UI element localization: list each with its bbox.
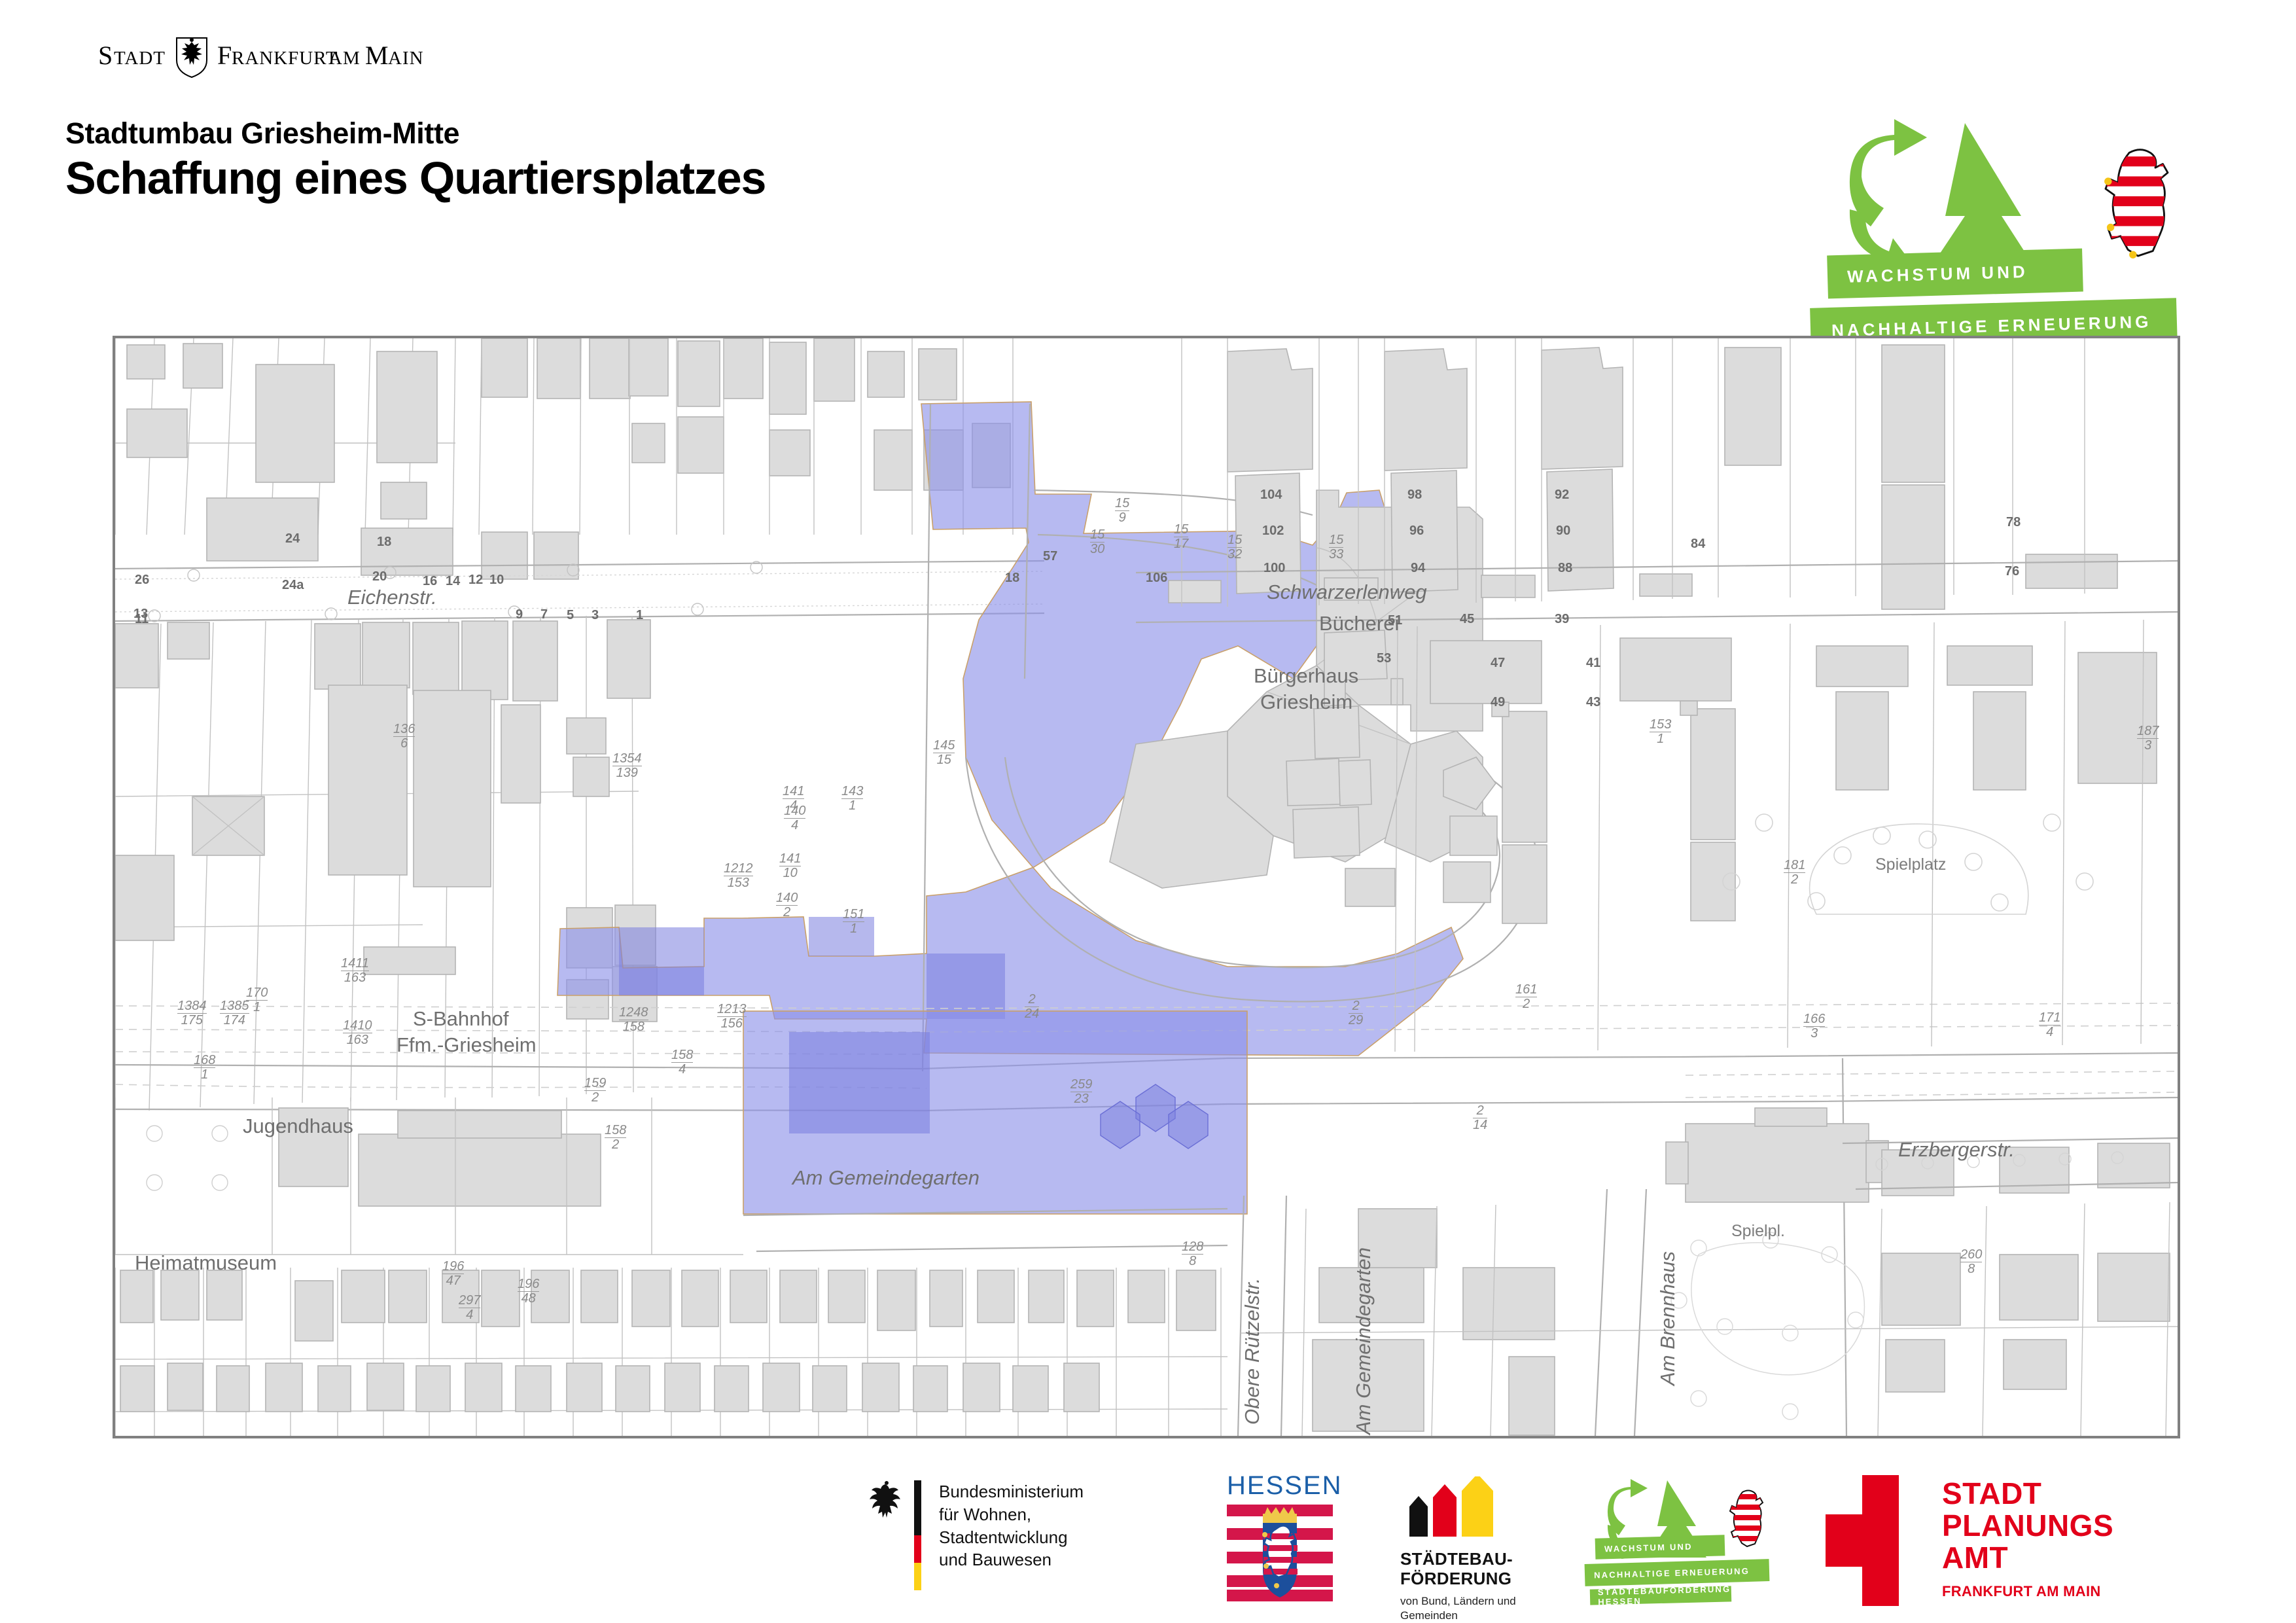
house-number: 88 — [1558, 561, 1572, 576]
logo-staedtebaufoerderung: STÄDTEBAU- FÖRDERUNG von Bund, Ländern u… — [1400, 1476, 1516, 1623]
house-number: 57 — [1043, 549, 1057, 564]
parcel-number: 1402 — [776, 891, 798, 919]
staedtebau-line2: FÖRDERUNG — [1400, 1569, 1516, 1588]
svg-text:F: F — [217, 41, 232, 70]
parcel-number: 1531 — [1650, 718, 1671, 745]
parcel-number: 1592 — [584, 1077, 606, 1104]
house-number: 78 — [2006, 515, 2021, 530]
logo-hessen: HESSEN — [1227, 1471, 1343, 1605]
house-number: 94 — [1411, 561, 1425, 576]
page-subtitle: Stadtumbau Griesheim-Mitte — [65, 118, 766, 149]
house-number: 16 — [423, 574, 437, 589]
parcel-number: 1385174 — [220, 999, 249, 1027]
parcel-number: 1873 — [2137, 724, 2159, 752]
svg-text:AM: AM — [328, 48, 361, 69]
house-number: 100 — [1263, 561, 1285, 576]
parcel-number: 224 — [1025, 993, 1039, 1020]
map-content: .p { fill:#dcdcdc; stroke:#b4b4b4; strok… — [115, 338, 2178, 1436]
parcel-number: 1582 — [605, 1124, 626, 1151]
parcel-number: 1248158 — [619, 1006, 648, 1033]
parcel-number: 1812 — [1784, 859, 1805, 886]
house-number: 5 — [567, 608, 574, 623]
parcel-number: 1288 — [1182, 1240, 1203, 1268]
program-logo-line1: WACHSTUM UND — [1827, 249, 2083, 299]
bundesadler-icon — [867, 1479, 906, 1537]
logo-stadtplanungsamt: STADT PLANUNGS AMT FRANKFURT AM MAIN — [1826, 1475, 1924, 1609]
place-label-buecherei: Bücherei — [1319, 612, 1399, 635]
map-vector-layer: .p { fill:#dcdcdc; stroke:#b4b4b4; strok… — [115, 338, 2178, 1436]
place-label-spielplatz: Spielplatz — [1875, 855, 1946, 874]
house-number: 3 — [592, 608, 599, 623]
place-label-s-bahnhof: S-Bahnhof — [413, 1007, 509, 1031]
program-small-line1: WACHSTUM UND — [1595, 1535, 1725, 1560]
house-number: 92 — [1555, 488, 1569, 503]
bmwsb-line3: und Bauwesen — [939, 1548, 1084, 1571]
svg-text:AIN: AIN — [388, 48, 424, 69]
house-number: 47 — [1491, 656, 1505, 671]
parcel-number: 214 — [1473, 1104, 1487, 1132]
spa-line1: STADT — [1942, 1478, 2113, 1510]
parcel-number: 2608 — [1960, 1248, 1982, 1275]
hessen-wordmark: HESSEN — [1227, 1471, 1343, 1501]
house-number: 76 — [2005, 564, 2019, 579]
title-block: Stadtumbau Griesheim-Mitte Schaffung ein… — [65, 118, 766, 204]
house-number: 20 — [372, 569, 387, 584]
parcel-number: 1517 — [1174, 523, 1188, 550]
parcel-number: 1532 — [1227, 533, 1242, 561]
logo-bmwsb: Bundesministerium für Wohnen, Stadtentwi… — [867, 1479, 906, 1540]
bmwsb-line2: für Wohnen, Stadtentwicklung — [939, 1503, 1084, 1549]
parcel-number: 1612 — [1515, 983, 1537, 1010]
house-number: 39 — [1555, 612, 1569, 627]
house-number: 98 — [1407, 488, 1422, 503]
house-number: 84 — [1691, 537, 1705, 552]
house-number: 9 — [516, 607, 523, 622]
house-number: 24 — [285, 531, 300, 546]
parcel-number: 1533 — [1329, 533, 1343, 561]
street-label-eichenstr: Eichenstr. — [347, 586, 437, 609]
parcel-number: 14515 — [933, 739, 955, 766]
staedtebau-sub1: von Bund, Ländern und — [1400, 1594, 1516, 1609]
house-number: 96 — [1409, 524, 1424, 539]
parcel-number: 14110 — [779, 852, 801, 880]
house-number: 43 — [1586, 695, 1600, 710]
street-label-am-gemeindegarten: Am Gemeindegarten — [792, 1166, 980, 1190]
flag-gold — [914, 1563, 921, 1590]
house-number: 26 — [135, 573, 149, 588]
house-number: 18 — [377, 535, 391, 550]
house-number: 104 — [1260, 488, 1282, 503]
parcel-number: 229 — [1349, 999, 1363, 1027]
house-number: 102 — [1262, 524, 1284, 539]
parcel-number: 1530 — [1090, 528, 1104, 556]
spa-line3: AMT — [1942, 1542, 2113, 1574]
spa-line2: PLANUNGS — [1942, 1510, 2113, 1542]
street-label-schwarzerlenweg: Schwarzerlenweg — [1267, 580, 1427, 604]
place-label-spielpl: Spielpl. — [1731, 1222, 1785, 1241]
flag-red — [914, 1535, 921, 1563]
parcel-number: 1714 — [2039, 1011, 2060, 1039]
place-label-jugendhaus: Jugendhaus — [243, 1115, 353, 1138]
parcel-number: 1663 — [1803, 1012, 1825, 1040]
parcel-number: 1431 — [841, 785, 863, 812]
parcel-number: 1212153 — [724, 862, 753, 889]
svg-text:M: M — [365, 41, 389, 70]
street-label-erzbergerstr: Erzbergerstr. — [1898, 1138, 2015, 1162]
svg-text:S: S — [98, 41, 113, 70]
parcel-number: 2974 — [459, 1294, 480, 1321]
parcel-number: 1584 — [671, 1048, 693, 1076]
house-number: 45 — [1460, 612, 1474, 627]
house-number: 14 — [446, 574, 460, 589]
logo-program-small: WACHSTUM UND NACHHALTIGE ERNEUERUNG STÄD… — [1583, 1471, 1780, 1612]
parcel-number: 1681 — [194, 1054, 215, 1081]
house-number: 10 — [489, 573, 504, 588]
house-number: 1 — [636, 608, 643, 623]
parcel-number: 19648 — [518, 1277, 539, 1305]
place-label-heimatmuseum: Heimatmuseum — [135, 1251, 277, 1275]
staedtebau-line1: STÄDTEBAU- — [1400, 1549, 1516, 1569]
program-small-line3: STÄDTEBAUFÖRDERUNG HESSEN — [1590, 1586, 1732, 1605]
parcel-number: 1354139 — [612, 752, 642, 779]
parcel-number: 1411163 — [341, 957, 369, 984]
staedtebau-houses-icon — [1400, 1476, 1505, 1537]
staedtebau-sub2: Gemeinden — [1400, 1609, 1516, 1623]
bmwsb-line1: Bundesministerium — [939, 1480, 1084, 1503]
house-number: 41 — [1586, 656, 1600, 671]
parcel-number: 1384175 — [177, 999, 207, 1027]
parcel-number: 1701 — [246, 986, 268, 1014]
street-label-am-gemeindegarten-2: Am Gemeindegarten — [1352, 1247, 1375, 1435]
parcel-number: 159 — [1115, 497, 1129, 524]
street-label-am-brennhaus: Am Brennhaus — [1656, 1251, 1680, 1385]
street-label-obere-ruetzelstr: Obere Rützelstr. — [1241, 1277, 1264, 1425]
house-number: 90 — [1556, 524, 1570, 539]
parcel-number: 1410163 — [343, 1019, 372, 1046]
house-number: 24a — [282, 578, 304, 593]
place-label-buergerhaus: Bürgerhaus — [1254, 664, 1358, 688]
cadastral-map[interactable]: .p { fill:#dcdcdc; stroke:#b4b4b4; strok… — [113, 336, 2180, 1438]
house-number: 18 — [1005, 571, 1019, 586]
house-number: 7 — [540, 607, 548, 622]
parcel-number: 1213156 — [717, 1003, 747, 1030]
stadtplanungsamt-mark-icon — [1826, 1475, 1924, 1606]
place-label-griesheim: Griesheim — [1260, 690, 1352, 714]
parcel-number: 1366 — [393, 722, 415, 750]
city-logo: S TADT F RANKFURT AM M AIN — [98, 33, 517, 79]
house-number: 49 — [1491, 695, 1505, 710]
parcel-number: 19647 — [442, 1260, 464, 1287]
svg-text:TADT: TADT — [114, 48, 166, 69]
svg-text:RANKFURT: RANKFURT — [232, 48, 338, 69]
parcel-number: 1404 — [784, 804, 805, 832]
parcel-number: 25923 — [1070, 1078, 1092, 1105]
house-number: 53 — [1377, 651, 1391, 666]
house-number: 106 — [1146, 571, 1167, 586]
house-number: 51 — [1388, 613, 1402, 628]
flag-black — [914, 1480, 921, 1535]
footer-logos: Bundesministerium für Wohnen, Stadtentwi… — [0, 1466, 2296, 1623]
page-title: Schaffung eines Quartiersplatzes — [65, 152, 766, 204]
spa-sub: FRANKFURT AM MAIN — [1942, 1584, 2113, 1599]
place-label-ffm-griesheim: Ffm.-Griesheim — [397, 1033, 537, 1057]
parcel-number: 1511 — [843, 908, 864, 935]
house-number: 13 — [133, 607, 148, 622]
hessen-coat-of-arms-icon — [1227, 1505, 1333, 1601]
house-number: 12 — [468, 573, 483, 588]
